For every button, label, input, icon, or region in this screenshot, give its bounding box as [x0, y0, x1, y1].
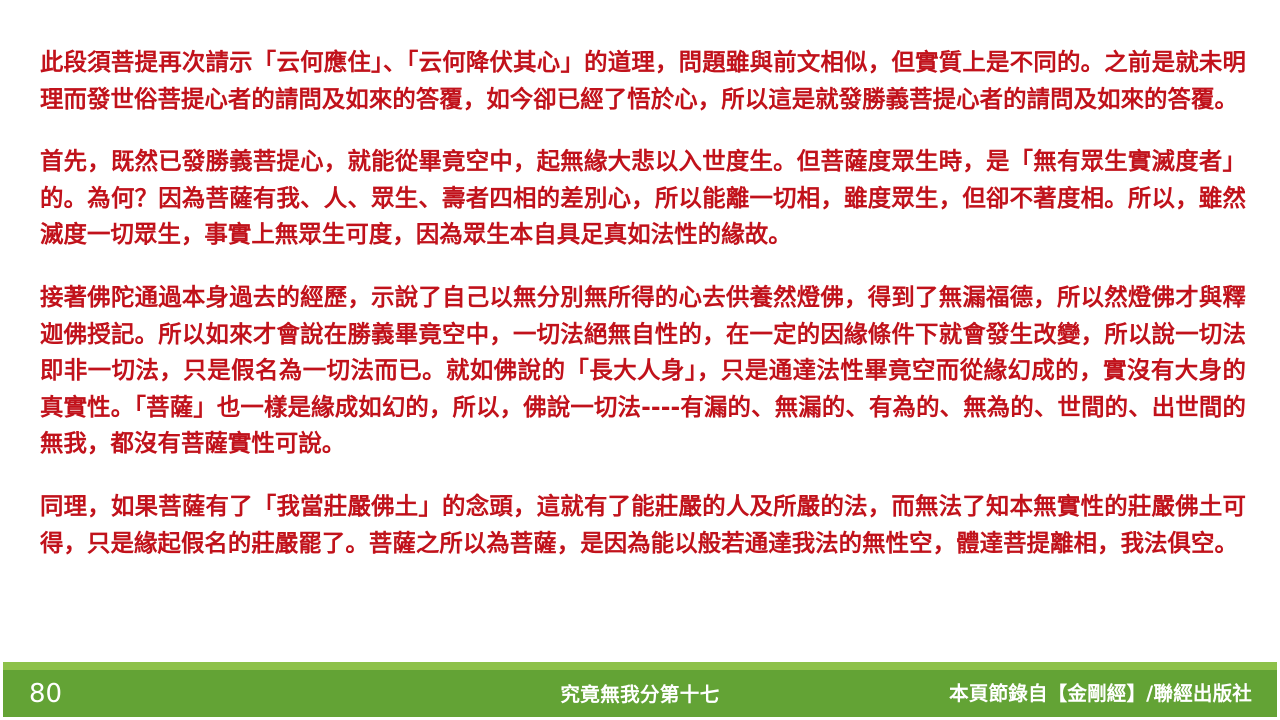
slide-content-area: 此段須菩提再次請示「云何應住」、「云何降伏其心」的道理，問題雖與前文相似，但實質…: [0, 0, 1280, 662]
body-paragraph-3: 接著佛陀通過本身過去的經歷，示說了自己以無分別無所得的心去供養然燈佛，得到了無漏…: [40, 279, 1246, 462]
body-paragraph-2: 首先，既然已發勝義菩提心，就能從畢竟空中，起無緣大悲以入世度生。但菩薩度眾生時，…: [40, 143, 1246, 253]
body-paragraph-1: 此段須菩提再次請示「云何應住」、「云何降伏其心」的道理，問題雖與前文相似，但實質…: [40, 44, 1246, 117]
source-attribution: 本頁節錄自【金剛經】/聯經出版社: [949, 682, 1252, 706]
footer-accent-stripe: [3, 662, 1277, 670]
body-paragraph-4: 同理，如果菩薩有了「我當莊嚴佛土」的念頭，這就有了能莊嚴的人及所嚴的法，而無法了…: [40, 488, 1246, 561]
